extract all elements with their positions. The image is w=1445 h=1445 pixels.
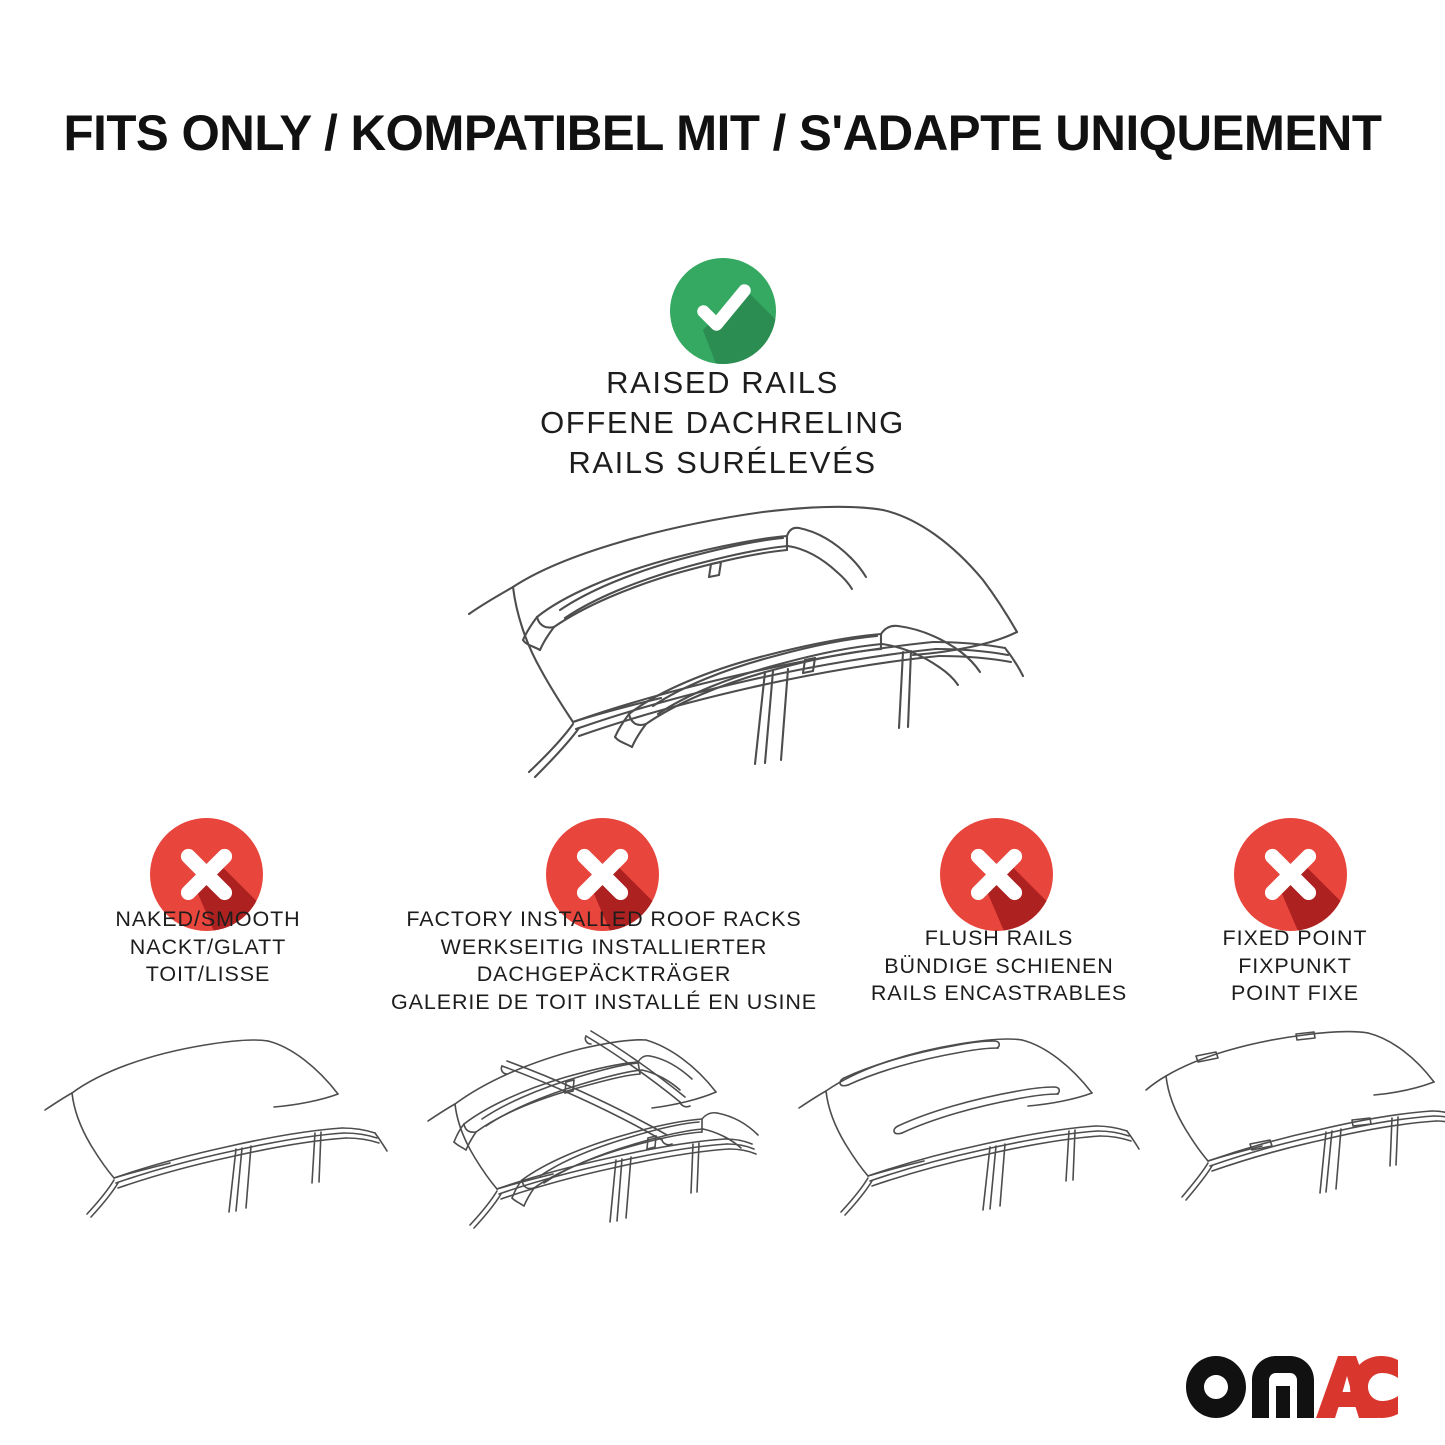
x-icon-container-flush-rails [940,818,1053,931]
label-line: POINT FIXE [1164,980,1426,1008]
label-factory-installed-roof-racks: FACTORY INSTALLED ROOF RACKS WERKSEITIG … [378,906,830,1016]
label-naked-smooth: NAKED/SMOOTH NACKT/GLATT TOIT/LISSE [48,906,368,989]
label-line: DACHGEPÄCKTRÄGER [378,961,830,989]
fitment-compatibility-infographic: FITS ONLY / KOMPATIBEL MIT / S'ADAPTE UN… [0,0,1445,1445]
label-line: FLUSH RAILS [842,925,1156,953]
omac-wordmark [1186,1356,1398,1418]
illustration-naked-smooth [30,1016,380,1246]
car-roof-with-raised-rails-diagram [413,492,1033,792]
illustration-fixed-point [1140,1016,1445,1246]
car-roof-fixed-point-diagram [1140,1016,1445,1246]
label-line: FACTORY INSTALLED ROOF RACKS [378,906,830,934]
car-roof-flush-rails-diagram [782,1016,1132,1246]
label-line: BÜNDIGE SCHIENEN [842,953,1156,981]
label-line: FIXED POINT [1164,925,1426,953]
label-line: NAKED/SMOOTH [48,906,368,934]
car-roof-factory-roof-rack-diagram [400,1016,750,1256]
red-x-circle-icon [940,818,1053,931]
compatible-label-line: RAILS SURÉLEVÉS [0,443,1445,483]
compatible-label: RAISED RAILS OFFENE DACHRELING RAILS SUR… [0,363,1445,483]
label-line: WERKSEITIG INSTALLIERTER [378,934,830,962]
label-line: FIXPUNKT [1164,953,1426,981]
label-line: RAILS ENCASTRABLES [842,980,1156,1008]
logo-letter-m [1252,1356,1314,1418]
label-line: GALERIE DE TOIT INSTALLÉ EN USINE [378,989,830,1017]
label-line: TOIT/LISSE [48,961,368,989]
check-icon-container [0,258,1445,369]
illustration-factory-roof-racks [400,1016,750,1256]
illustration-flush-rails [782,1016,1132,1246]
raised-rails-illustration-container [0,492,1445,797]
label-line: NACKT/GLATT [48,934,368,962]
compatible-label-line: OFFENE DACHRELING [0,403,1445,443]
label-fixed-point: FIXED POINT FIXPUNKT POINT FIXE [1164,925,1426,1008]
car-roof-naked-smooth-diagram [30,1016,380,1246]
compatible-label-line: RAISED RAILS [0,363,1445,403]
page-title: FITS ONLY / KOMPATIBEL MIT / S'ADAPTE UN… [11,104,1434,162]
logo-letter-o [1186,1356,1246,1418]
green-check-circle-icon [670,258,776,364]
omac-logo [1186,1356,1398,1418]
x-icon-container-fixed-point [1234,818,1347,931]
red-x-circle-icon [1234,818,1347,931]
label-flush-rails: FLUSH RAILS BÜNDIGE SCHIENEN RAILS ENCAS… [842,925,1156,1008]
